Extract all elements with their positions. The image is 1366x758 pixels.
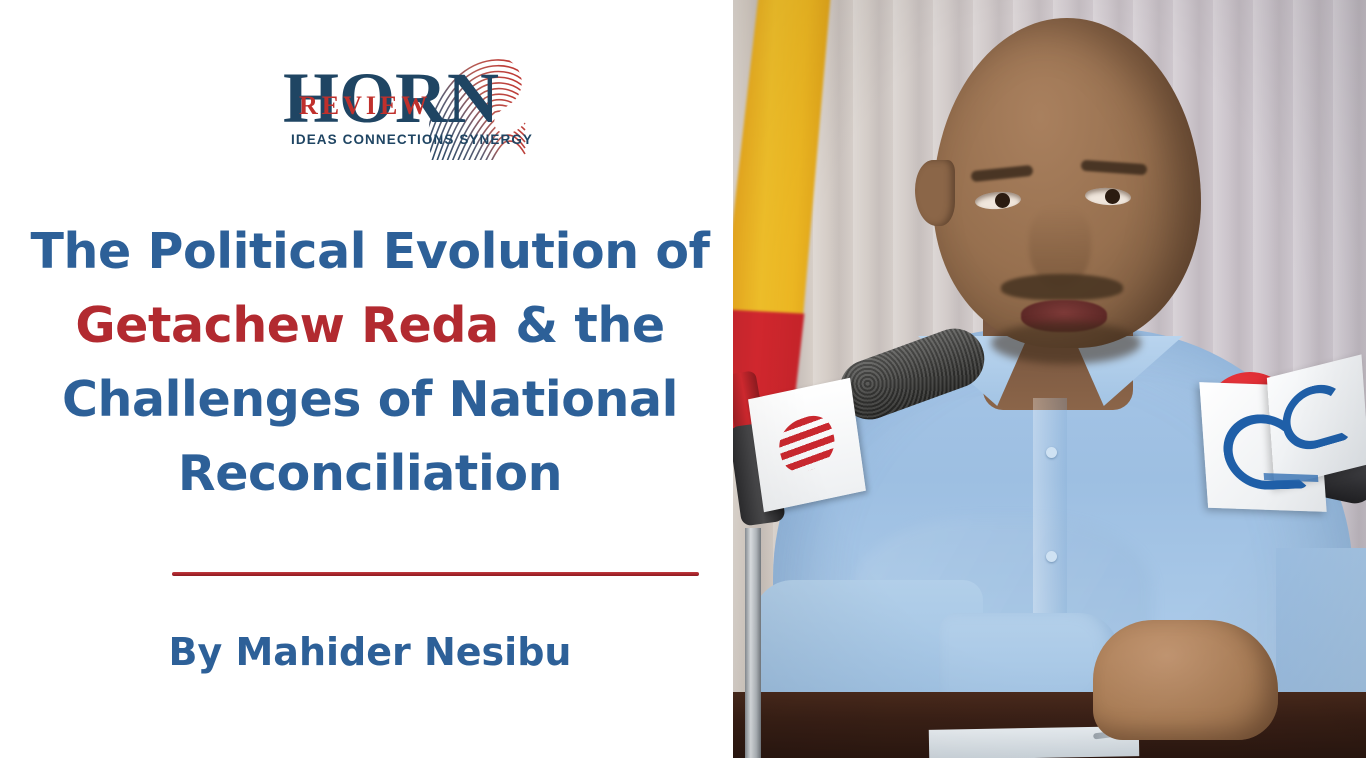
hand: [1093, 620, 1278, 740]
shirt-button-lower: [1046, 551, 1057, 562]
headline-subject-name: Getachew Reda: [75, 297, 498, 354]
headline-line-2-rest: & the: [499, 297, 665, 354]
headline-line-4: Reconciliation: [178, 445, 562, 502]
shirt-button-upper: [1046, 447, 1057, 458]
mustache: [1001, 274, 1123, 300]
pupil-left: [995, 193, 1010, 208]
ear: [915, 160, 955, 226]
title-divider: [172, 572, 699, 576]
headline-line-3: Challenges of National: [62, 371, 678, 428]
logo-wordmark: HORN REVIEW: [283, 62, 483, 140]
microphone-flag-left: [748, 378, 866, 513]
subject-photo: [733, 0, 1366, 758]
logo-review-text: REVIEW: [299, 93, 431, 119]
arm-right-edge: [1276, 548, 1366, 698]
author-byline: By Mahider Nesibu: [30, 628, 710, 676]
headline-line-1: The Political Evolution of: [30, 223, 709, 280]
chin-beard: [991, 322, 1141, 364]
page-title: The Political Evolution of Getachew Reda…: [30, 215, 710, 511]
pupil-right: [1105, 189, 1120, 204]
article-banner: HORN REVIEW IDEAS CONNECTIONS SYNERGY Th…: [0, 0, 1366, 758]
microphone-stand: [745, 528, 761, 758]
logo-tagline: IDEAS CONNECTIONS SYNERGY: [291, 132, 533, 147]
microphone-flag-left-logo-icon: [773, 410, 841, 479]
left-text-panel: HORN REVIEW IDEAS CONNECTIONS SYNERGY Th…: [0, 0, 733, 758]
horn-review-logo[interactable]: HORN REVIEW IDEAS CONNECTIONS SYNERGY: [283, 52, 533, 160]
